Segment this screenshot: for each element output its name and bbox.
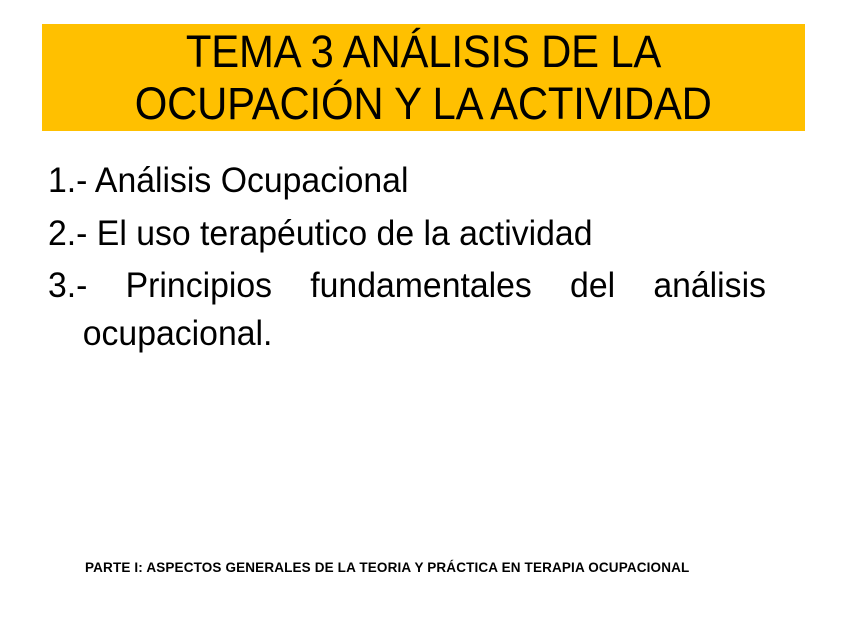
outline-item-2: 2.- El uso terapéutico de la actividad (48, 208, 766, 260)
title-line-2: OCUPACIÓN Y LA ACTIVIDAD (135, 78, 712, 130)
outline-item-3: 3.- Principios fundamentales del análisi… (48, 261, 766, 358)
footer-text: PARTE I: ASPECTOS GENERALES DE LA TEORIA… (85, 560, 689, 575)
outline-item-3-line-1: 3.- Principios fundamentales del análisi… (48, 266, 766, 305)
title-line-1: TEMA 3 ANÁLISIS DE LA (186, 26, 661, 78)
slide-canvas: TEMA 3 ANÁLISIS DE LA OCUPACIÓN Y LA ACT… (0, 0, 848, 636)
outline-item-3-line-2: ocupacional. (48, 309, 766, 358)
title-banner: TEMA 3 ANÁLISIS DE LA OCUPACIÓN Y LA ACT… (42, 24, 805, 131)
body-outline-list: 1.- Análisis Ocupacional 2.- El uso tera… (48, 155, 792, 359)
outline-item-1: 1.- Análisis Ocupacional (48, 155, 766, 207)
